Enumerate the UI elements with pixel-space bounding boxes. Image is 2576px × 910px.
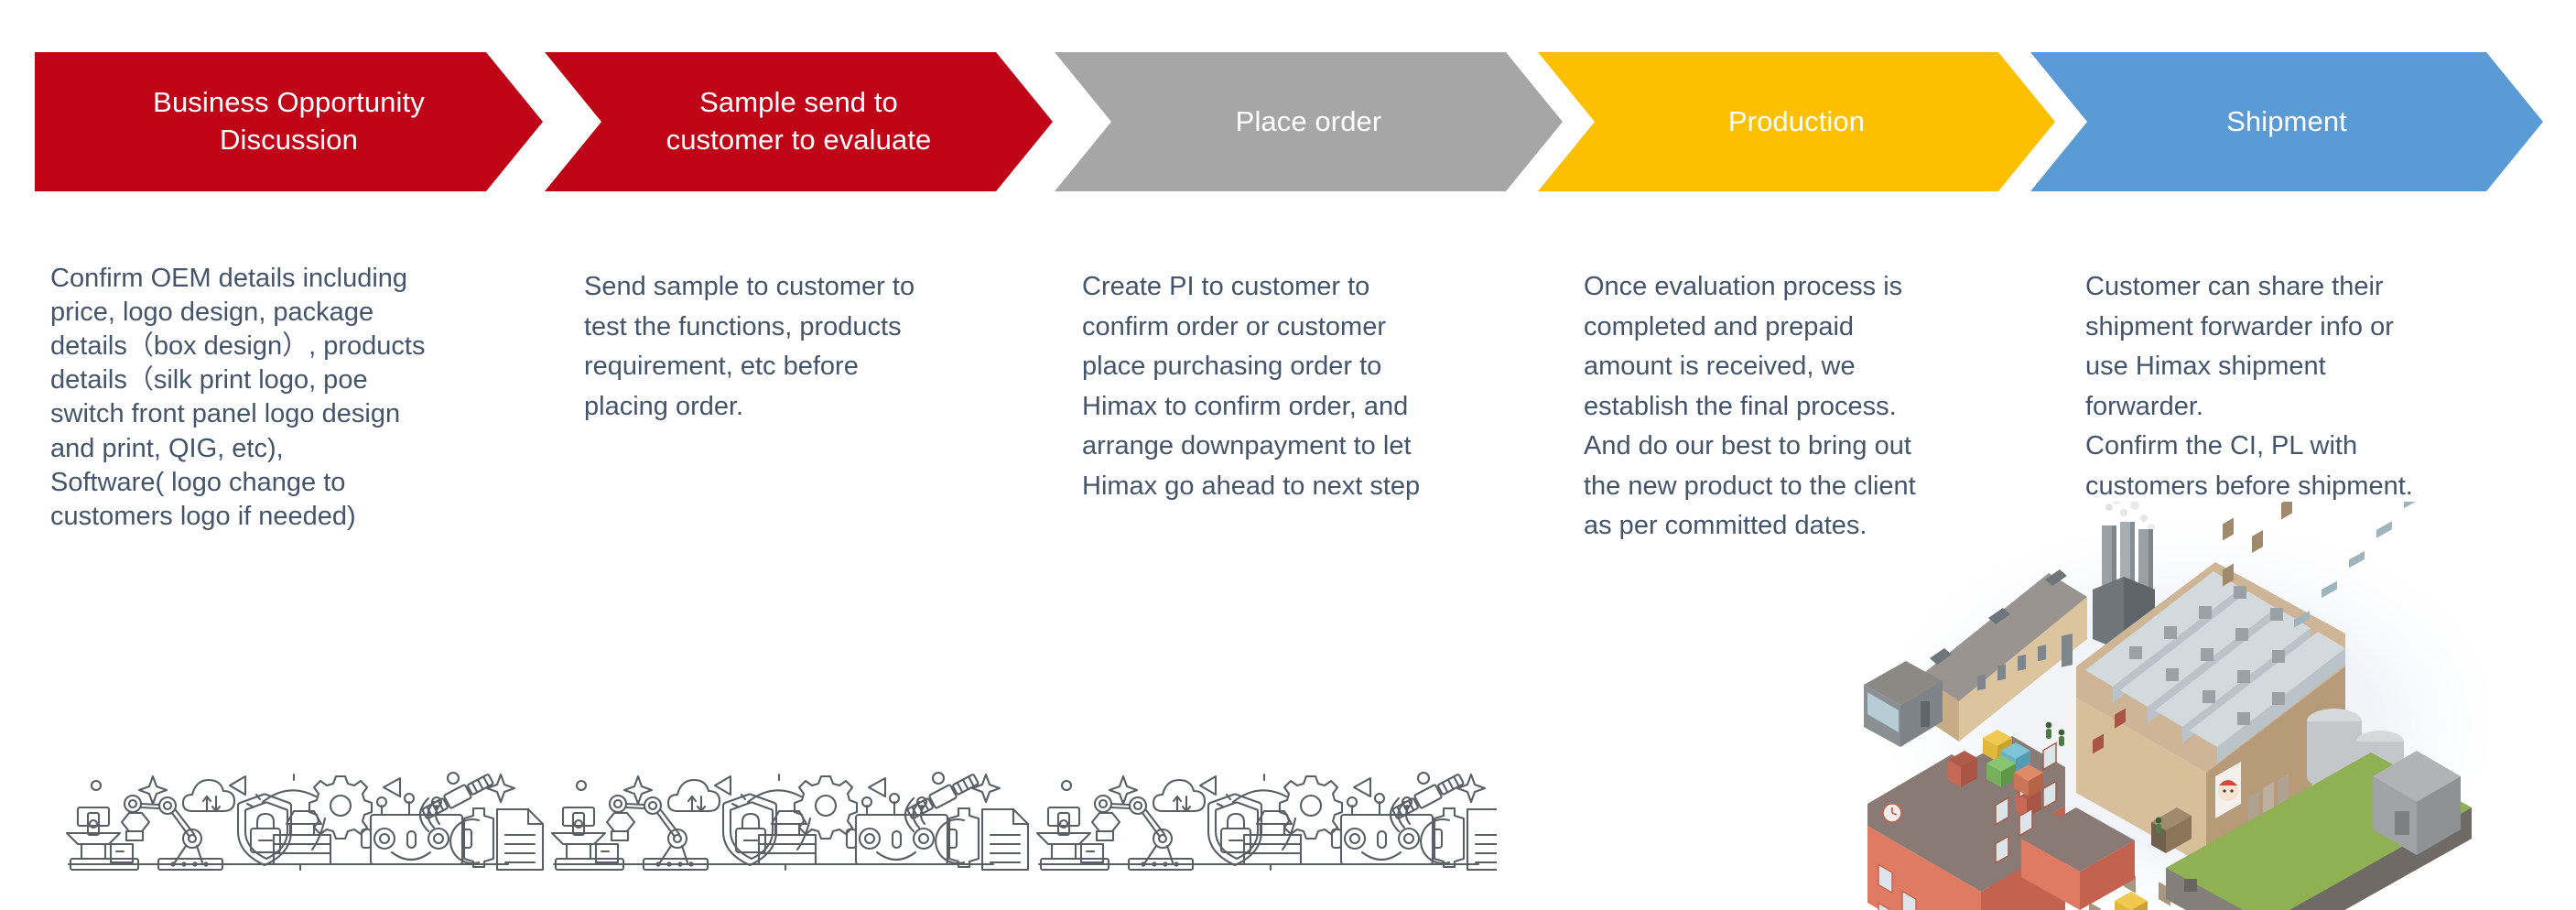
step-description-production: Once evaluation process is completed and… [1584,267,2014,547]
step-descriptions: Confirm OEM details including price, log… [0,0,2576,910]
step-description-place-order: Create PI to customer to confirm order o… [1082,267,1531,506]
step-description-shipment: Customer can share their shipment forwar… [2085,267,2525,506]
step-description-business-opportunity-discussion: Confirm OEM details including price, log… [50,262,508,534]
step-description-sample-send-to-customer: Send sample to customer to test the func… [584,267,1023,427]
